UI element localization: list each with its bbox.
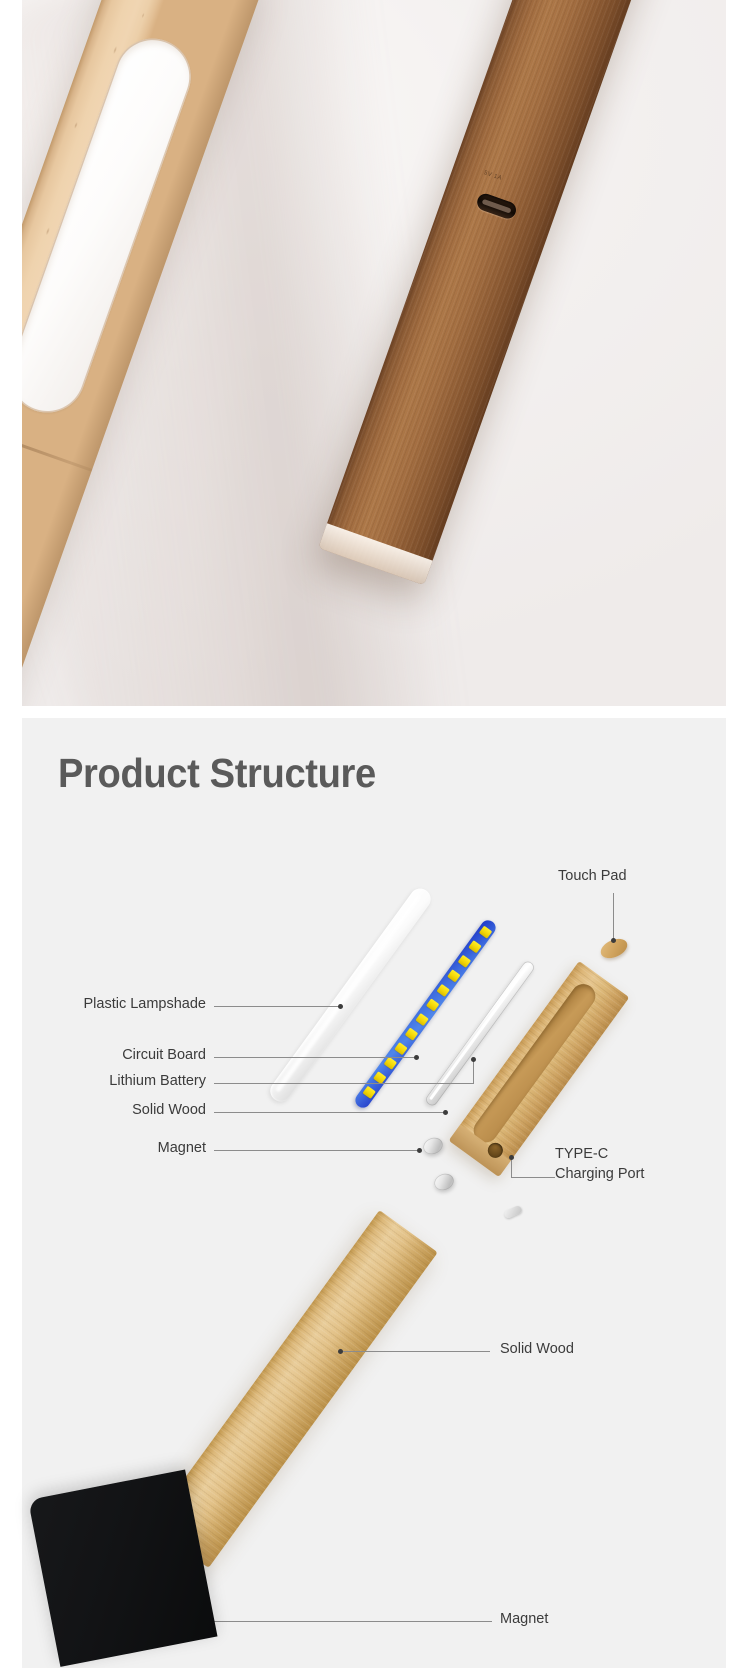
leader-line-lithium-battery-vertical <box>473 1060 474 1084</box>
led-chip <box>457 954 470 967</box>
callout-lithium-battery: Lithium Battery <box>36 1072 206 1091</box>
leader-line-type-c-horizontal <box>511 1177 555 1178</box>
led-chip <box>468 940 481 953</box>
leader-line-circuit-board <box>214 1057 418 1058</box>
magnet-part <box>421 1135 446 1157</box>
leader-line-magnet-upper <box>214 1150 420 1151</box>
led-chip <box>426 998 439 1011</box>
leader-line-magnet-lower <box>200 1621 492 1622</box>
leader-line-type-c-vertical <box>511 1158 512 1178</box>
callout-solid-wood-lower: Solid Wood <box>500 1340 574 1359</box>
leader-dot-type-c <box>509 1155 514 1160</box>
product-photo-section: 5V 1A <box>0 0 748 708</box>
leader-dot-solid-wood-upper <box>443 1110 448 1115</box>
magnet-part <box>432 1171 457 1193</box>
callout-type-c-line2: Charging Port <box>555 1165 644 1184</box>
callout-magnet-lower: Magnet <box>500 1610 548 1629</box>
leader-dot-plastic-lampshade <box>338 1004 343 1009</box>
leader-dot-touch-pad <box>611 938 616 943</box>
led-chip <box>404 1027 417 1040</box>
type-c-connector-part <box>503 1205 523 1220</box>
leader-dot-magnet-upper <box>417 1148 422 1153</box>
callout-solid-wood-upper: Solid Wood <box>36 1101 206 1120</box>
led-chip <box>383 1056 396 1069</box>
black-base-surface <box>28 1469 217 1666</box>
callout-magnet-upper: Magnet <box>36 1139 206 1158</box>
led-chip <box>478 925 491 938</box>
leader-line-touch-pad <box>613 893 614 941</box>
leader-line-plastic-lampshade <box>214 1006 342 1007</box>
leader-line-solid-wood-lower <box>342 1351 490 1352</box>
callout-plastic-lampshade: Plastic Lampshade <box>36 995 206 1014</box>
leader-dot-solid-wood-lower <box>338 1349 343 1354</box>
leader-dot-circuit-board <box>414 1055 419 1060</box>
plastic-lampshade-part <box>266 884 435 1105</box>
callout-touch-pad: Touch Pad <box>558 867 627 886</box>
leader-line-lithium-battery <box>214 1083 474 1084</box>
product-photo: 5V 1A <box>22 0 726 706</box>
callout-type-c-line1: TYPE-C <box>555 1145 608 1164</box>
led-chip <box>394 1042 407 1055</box>
led-chip <box>415 1013 428 1026</box>
leader-line-solid-wood-upper <box>214 1112 446 1113</box>
callout-circuit-board: Circuit Board <box>36 1046 206 1065</box>
led-chip <box>447 969 460 982</box>
leader-dot-lithium-battery <box>471 1057 476 1062</box>
led-chip <box>436 984 449 997</box>
led-chip <box>362 1085 375 1098</box>
